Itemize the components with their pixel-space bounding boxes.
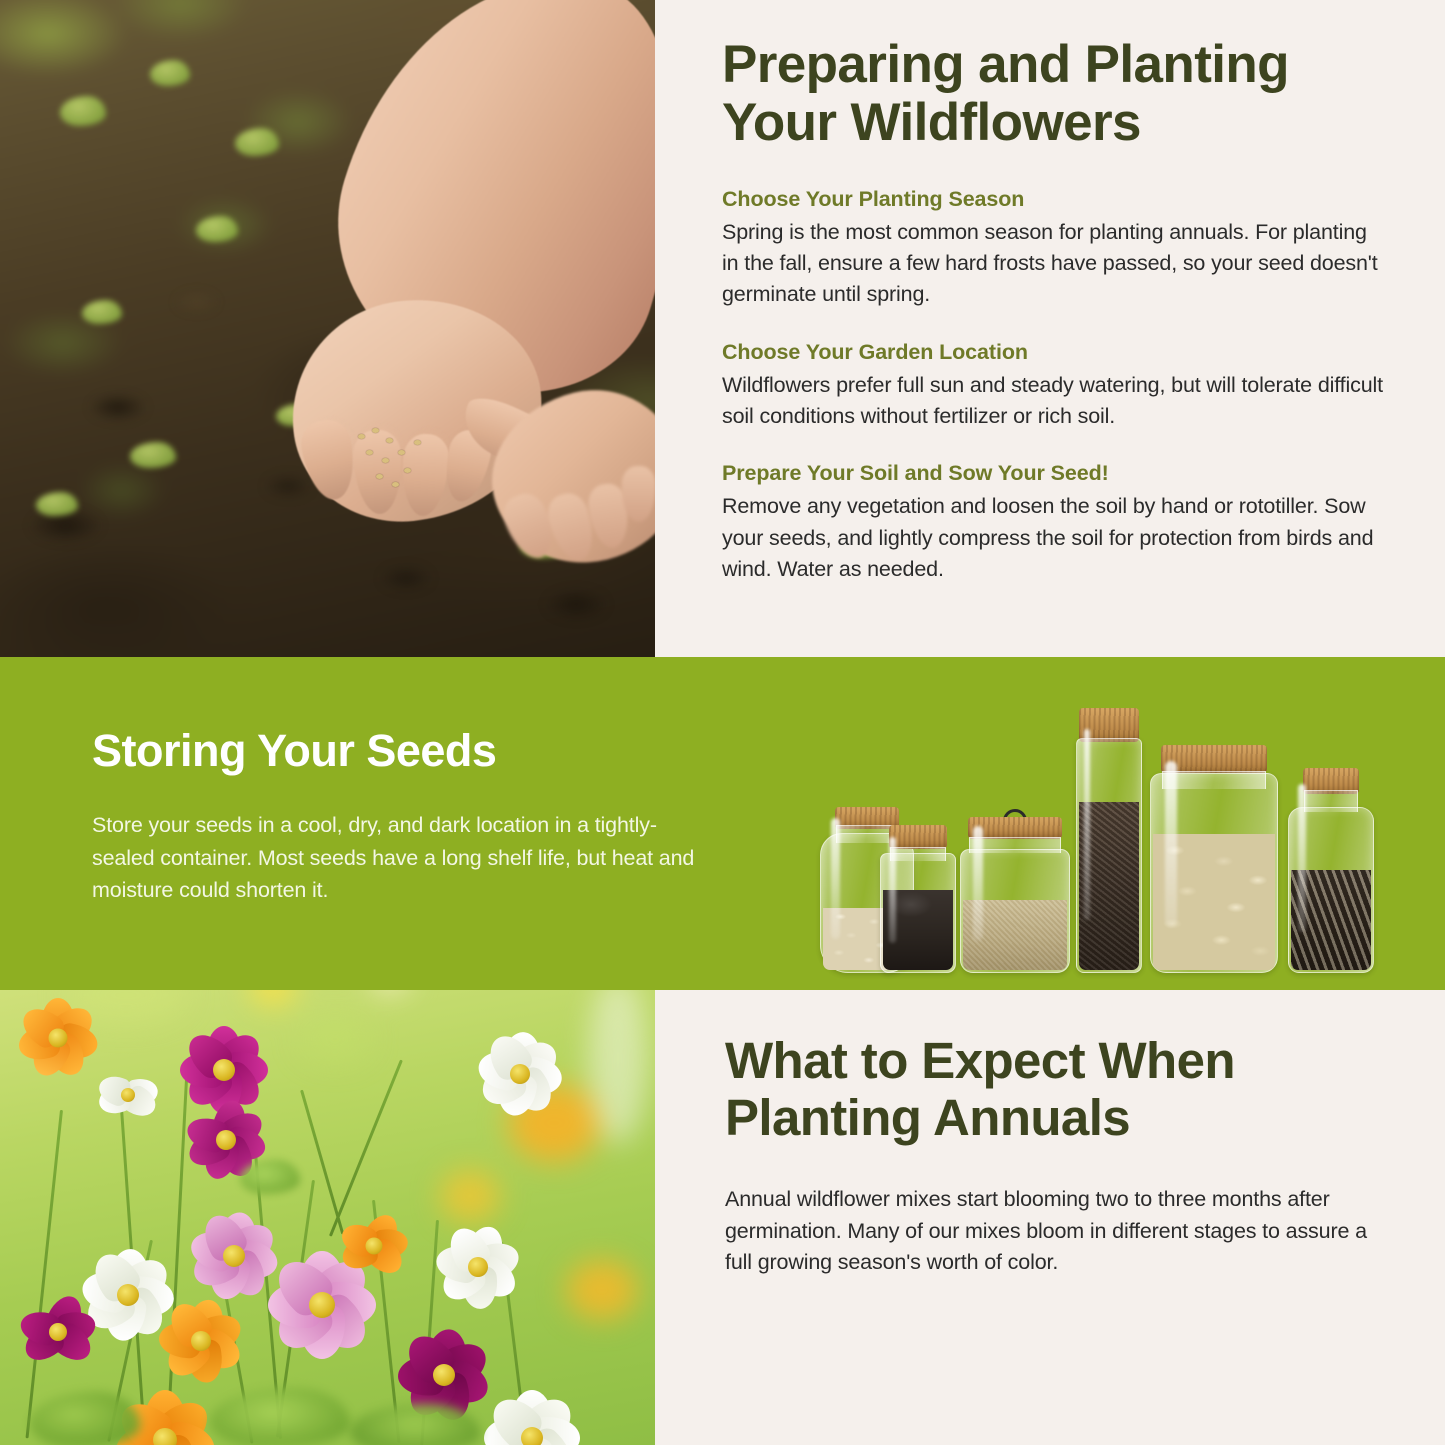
block-planting-season: Choose Your Planting Season Spring is th… [722,187,1387,311]
wildflowers-image [0,990,655,1445]
flower-magenta [10,1286,106,1378]
preparing-text-panel: Preparing and Planting Your Wildflowers … [655,0,1445,657]
subheading-planting-season: Choose Your Planting Season [722,187,1387,212]
section-preparing-and-planting: Preparing and Planting Your Wildflowers … [0,0,1445,657]
subheading-garden-location: Choose Your Garden Location [722,340,1387,365]
flower-white [464,1024,576,1124]
flower-white [470,1382,594,1445]
block-garden-location: Choose Your Garden Location Wildflowers … [722,340,1387,433]
expect-heading: What to Expect When Planting Annuals [725,1032,1383,1146]
jar-tall-dark-seeds [1076,708,1142,973]
section-storing-your-seeds: Storing Your Seeds Store your seeds in a… [0,657,1445,990]
body-planting-season: Spring is the most common season for pla… [722,217,1387,311]
storing-heading: Storing Your Seeds [92,725,717,777]
seed-jars-image [820,673,1400,973]
section-what-to-expect: What to Expect When Planting Annuals Ann… [0,990,1445,1445]
flower-white [424,1218,532,1316]
block-prepare-soil: Prepare Your Soil and Sow Your Seed! Rem… [722,461,1387,585]
seeds-in-hand [352,424,472,502]
body-garden-location: Wildflowers prefer full sun and steady w… [722,370,1387,433]
jar-sunflower-seeds [1288,768,1374,973]
flower-white [86,1062,170,1128]
storing-body: Store your seeds in a cool, dry, and dar… [92,809,717,907]
infographic-page: Preparing and Planting Your Wildflowers … [0,0,1445,1445]
body-prepare-soil: Remove any vegetation and loosen the soi… [722,491,1387,585]
flower-orange [146,1290,256,1392]
expect-body: Annual wildflower mixes start blooming t… [725,1184,1383,1278]
jar-pumpkin-seeds [1150,743,1278,973]
expect-text-panel: What to Expect When Planting Annuals Ann… [655,990,1445,1445]
jar-black-seeds [880,825,956,973]
jar-fine-tan-seeds [960,813,1070,973]
subheading-prepare-soil: Prepare Your Soil and Sow Your Seed! [722,461,1387,486]
page-title: Preparing and Planting Your Wildflowers [722,36,1387,153]
hand-sowing-seeds-image [0,0,655,657]
flower-orange [330,1206,418,1286]
storing-text-panel: Storing Your Seeds Store your seeds in a… [92,725,717,907]
